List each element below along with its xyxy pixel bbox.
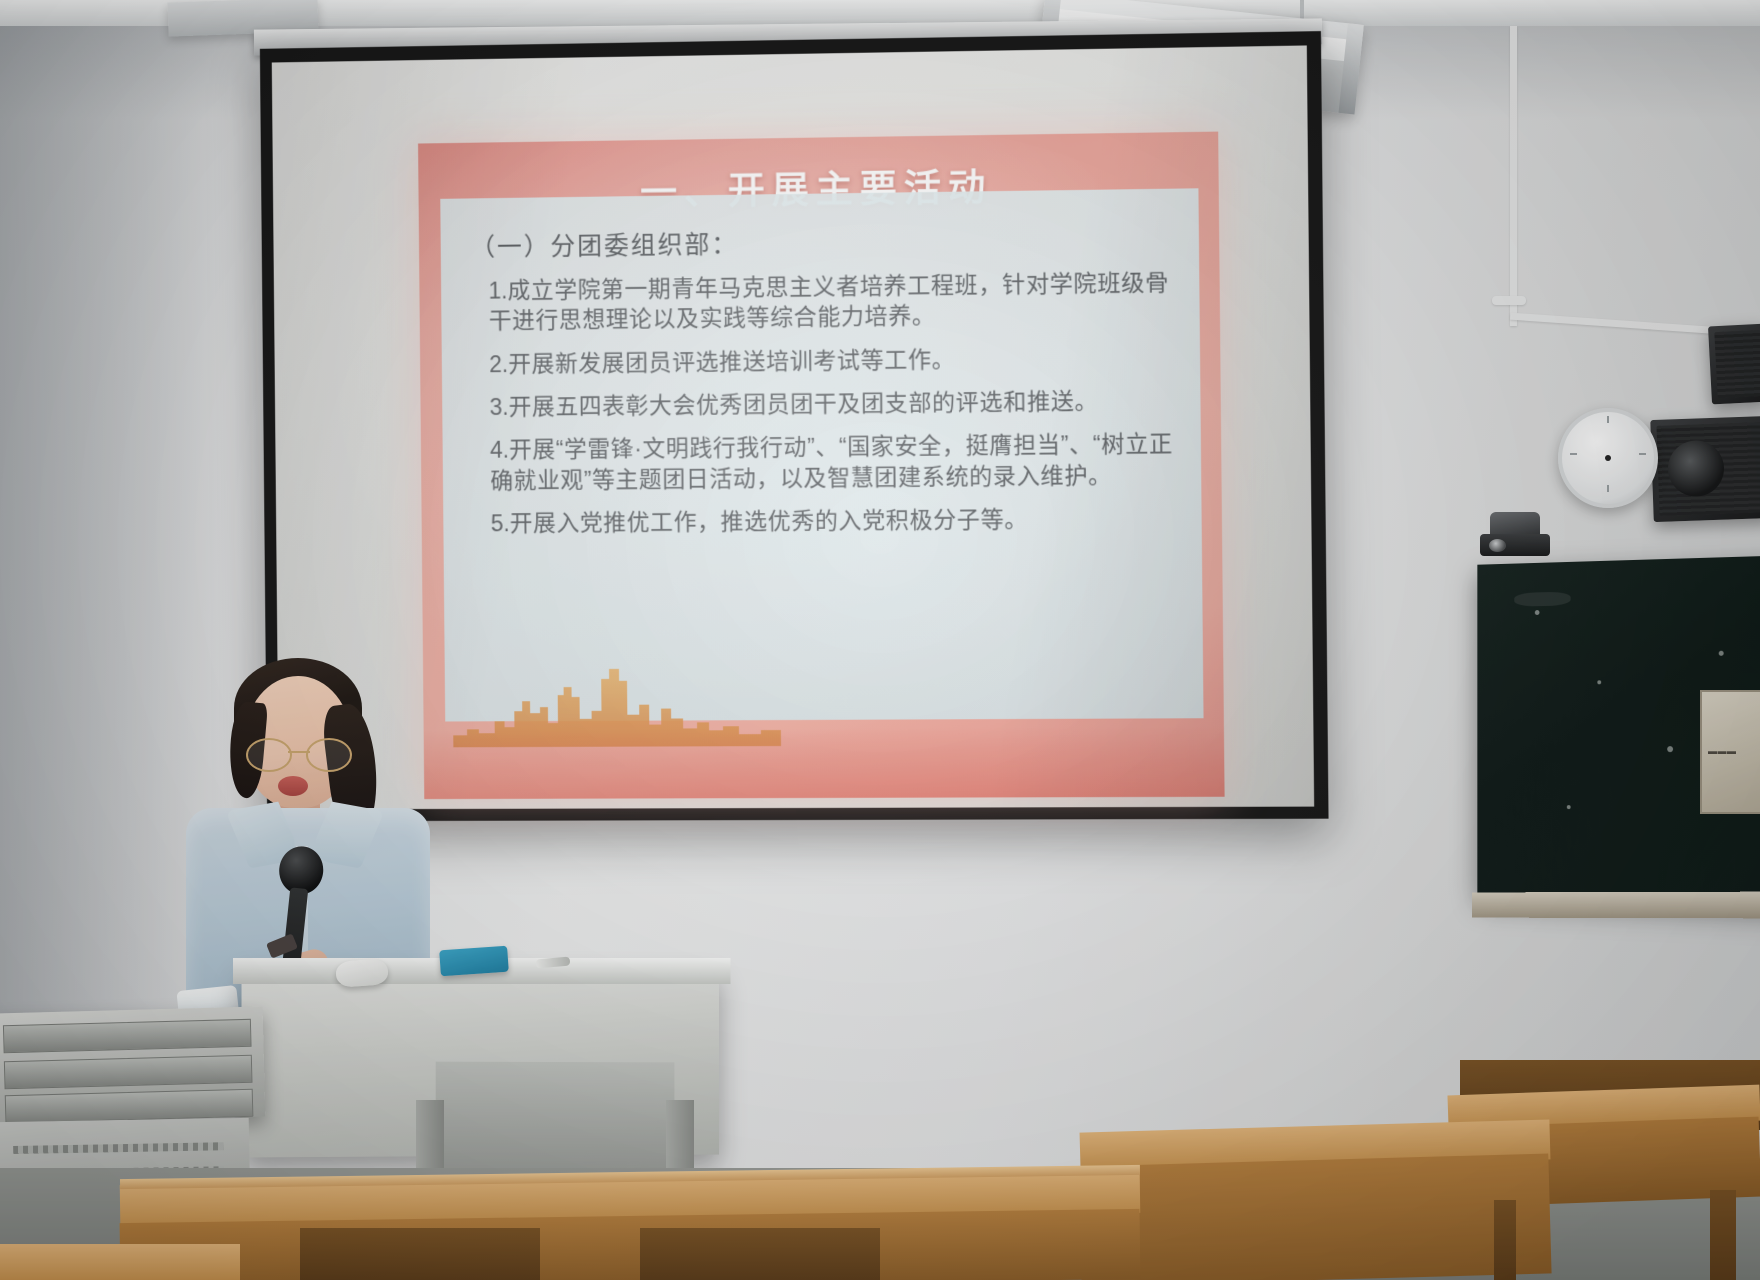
list-item-number: 1. — [488, 278, 507, 304]
glasses-bridge — [288, 751, 310, 753]
desk-gap-mid — [640, 1228, 880, 1280]
slide-bottom-band — [424, 726, 1225, 799]
wall-conduit-vertical — [1510, 26, 1517, 326]
list-item-text: 开展新发展团员评选推送培训考试等工作。 — [508, 346, 955, 377]
student-desk-frontrow-top — [0, 1244, 240, 1280]
rack-slot — [4, 1055, 253, 1089]
list-item-text: 开展入党推优工作，推选优秀的入党积极分子等。 — [510, 506, 1029, 536]
chalk-smudge — [1514, 592, 1570, 607]
clock-center-pin — [1605, 455, 1611, 461]
clock-tick — [1570, 453, 1577, 455]
blackboard-chalk-tray — [1472, 892, 1760, 919]
list-item-text: 开展“学雷锋·文明践行我行动”、“国家安全，挺膺担当”、“树立正确就业观”等主题… — [490, 431, 1173, 494]
clock-tick — [1639, 453, 1646, 455]
wall-panel-label: ▬▬▬ — [1708, 746, 1737, 756]
list-item: 2.开展新发展团员评选推送培训考试等工作。 — [489, 341, 1174, 379]
ptz-camera — [1480, 512, 1550, 558]
clock-tick — [1607, 416, 1609, 423]
list-item-number: 4. — [490, 437, 509, 463]
student-desk-mid-front — [1078, 1153, 1551, 1280]
presenter-mouth — [278, 776, 308, 796]
chalk-speck — [1597, 680, 1601, 684]
list-item-number: 2. — [489, 351, 508, 377]
chalk-speck — [1567, 805, 1571, 809]
list-item-text: 成立学院第一期青年马克思主义者培养工程班，针对学院班级骨干进行思想理论以及实践等… — [489, 269, 1169, 334]
glasses-icon — [246, 738, 352, 768]
smartphone — [439, 946, 509, 977]
slide-bullet-list: 1.成立学院第一期青年马克思主义者培养工程班，针对学院班级骨干进行思想理论以及实… — [467, 267, 1176, 539]
lectern-lower-shelf — [436, 1062, 675, 1173]
analog-wall-clock — [1558, 408, 1658, 508]
projected-slide: 一、开展主要活动 （一）分团委组织部： 1.成立学院第一期青年马克思主义者培养工… — [418, 132, 1225, 799]
wall-conduit-short — [1492, 296, 1526, 305]
chalk-speck — [1719, 651, 1724, 656]
rack-vent — [13, 1142, 223, 1154]
wall-speaker-upper — [1708, 324, 1760, 405]
list-item-number: 5. — [491, 510, 510, 536]
speaker-grill — [1714, 330, 1760, 398]
clock-tick — [1607, 485, 1609, 492]
wall-speaker-lower — [1650, 416, 1760, 522]
desk-leg-mid — [1494, 1200, 1516, 1280]
list-item-text: 开展五四表彰大会优秀团员团干及团支部的评选和推送。 — [508, 388, 1098, 420]
list-item: 1.成立学院第一期青年马克思主义者培养工程班，针对学院班级骨干进行思想理论以及实… — [488, 267, 1173, 336]
chalk-speck — [1667, 746, 1673, 752]
ptz-camera-lens-icon — [1489, 539, 1506, 552]
desk-gap-left — [300, 1228, 540, 1280]
list-item: 4.开展“学雷锋·文明践行我行动”、“国家安全，挺膺担当”、“树立正确就业观”等… — [490, 429, 1175, 496]
slide-section-label: （一）分团委组织部： — [470, 219, 1173, 264]
slide-content-card: （一）分团委组织部： 1.成立学院第一期青年马克思主义者培养工程班，针对学院班级… — [440, 188, 1203, 721]
glasses-lens-right — [306, 738, 352, 772]
classroom-photo-scene: 一、开展主要活动 （一）分团委组织部： 1.成立学院第一期青年马克思主义者培养工… — [0, 0, 1760, 1280]
list-item: 5.开展入党推优工作，推选优秀的入党积极分子等。 — [491, 503, 1176, 539]
av-equipment-rack — [0, 1006, 265, 1123]
desk-leg-right — [1710, 1190, 1736, 1280]
chalk-speck — [1535, 610, 1540, 615]
glasses-lens-left — [246, 738, 292, 772]
list-item-number: 3. — [490, 394, 509, 420]
rack-slot — [3, 1019, 252, 1053]
wall-info-panel: ▬▬▬ — [1700, 690, 1760, 814]
list-item: 3.开展五四表彰大会优秀团员团干及团支部的评选和推送。 — [490, 385, 1175, 422]
